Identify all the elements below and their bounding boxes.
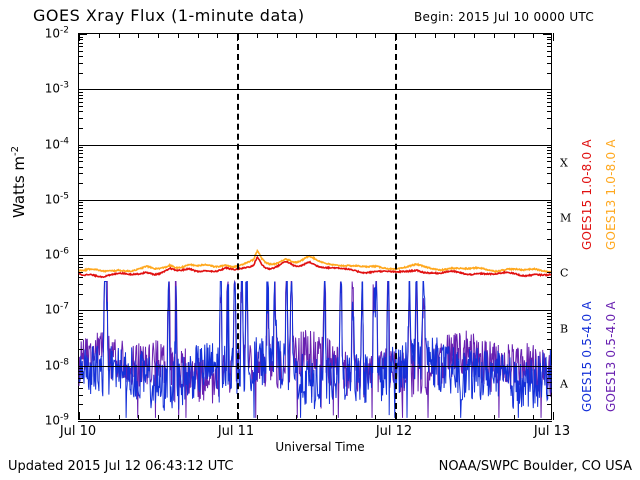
flare-class-B: B <box>560 322 568 335</box>
axis-tick-minor <box>514 33 515 38</box>
axis-tick-major <box>543 200 552 201</box>
axis-tick-minor <box>119 415 120 420</box>
axis-tick-minor <box>547 349 552 350</box>
axis-tick-minor <box>78 153 83 154</box>
y-tick-label: 10-4 <box>45 136 69 151</box>
axis-tick-minor <box>78 388 83 389</box>
axis-tick-minor <box>78 277 83 278</box>
axis-tick-minor <box>547 272 552 273</box>
legend-item-2: GOES15 0.5-4.0 A <box>580 301 594 412</box>
axis-tick-major <box>78 421 87 422</box>
axis-tick-minor <box>78 284 83 285</box>
axis-tick-minor <box>138 415 139 420</box>
axis-tick-minor <box>415 415 416 420</box>
trace-line <box>79 251 551 272</box>
axis-tick-minor <box>78 371 83 372</box>
axis-tick-minor <box>547 39 552 40</box>
flare-class-X: X <box>560 156 568 169</box>
axis-tick-minor <box>547 51 552 52</box>
axis-tick-minor <box>78 128 83 129</box>
axis-tick-minor <box>78 95 83 96</box>
gridline-horizontal <box>79 255 551 256</box>
axis-tick-minor <box>547 173 552 174</box>
y-axis-tick-labels: 10-210-310-410-510-610-710-810-9 <box>0 0 78 480</box>
axis-tick-minor <box>474 415 475 420</box>
axis-tick-minor <box>415 33 416 38</box>
axis-tick-minor <box>78 267 83 268</box>
x-tick-label: Jul 11 <box>218 424 254 439</box>
axis-tick-major <box>543 34 552 35</box>
axis-tick-minor <box>78 339 83 340</box>
axis-tick-minor <box>78 395 83 396</box>
axis-tick-minor <box>257 33 258 38</box>
axis-tick-major <box>237 412 238 420</box>
y-tick-label: 10-2 <box>45 26 69 41</box>
axis-tick-minor <box>257 415 258 420</box>
axis-tick-major <box>78 310 87 311</box>
axis-tick-minor <box>78 239 83 240</box>
axis-tick-minor <box>494 33 495 38</box>
axis-tick-minor <box>78 98 83 99</box>
axis-tick-minor <box>547 147 552 148</box>
axis-tick-major <box>543 255 552 256</box>
axis-tick-minor <box>78 167 83 168</box>
axis-tick-minor <box>78 327 83 328</box>
axis-tick-minor <box>316 33 317 38</box>
axis-tick-minor <box>547 327 552 328</box>
axis-tick-minor <box>78 216 83 217</box>
axis-tick-minor <box>454 33 455 38</box>
axis-tick-minor <box>78 222 83 223</box>
axis-tick-minor <box>547 202 552 203</box>
axis-tick-minor <box>78 349 83 350</box>
axis-tick-minor <box>547 368 552 369</box>
axis-tick-minor <box>547 128 552 129</box>
axis-tick-major <box>553 33 554 41</box>
axis-tick-minor <box>494 415 495 420</box>
axis-tick-major <box>237 33 238 41</box>
axis-tick-minor <box>547 63 552 64</box>
axis-tick-minor <box>547 92 552 93</box>
axis-tick-major <box>395 412 396 420</box>
axis-tick-minor <box>296 415 297 420</box>
gridline-horizontal <box>79 421 551 422</box>
axis-tick-minor <box>547 118 552 119</box>
axis-tick-minor <box>277 33 278 38</box>
axis-tick-minor <box>547 98 552 99</box>
axis-tick-minor <box>547 323 552 324</box>
axis-tick-minor <box>547 404 552 405</box>
axis-tick-minor <box>547 388 552 389</box>
flare-class-C: C <box>560 267 568 280</box>
axis-tick-major <box>543 89 552 90</box>
axis-tick-minor <box>78 106 83 107</box>
axis-tick-minor <box>547 284 552 285</box>
axis-tick-minor <box>78 316 83 317</box>
axis-tick-minor <box>547 261 552 262</box>
axis-tick-minor <box>99 415 100 420</box>
axis-tick-minor <box>547 37 552 38</box>
axis-tick-minor <box>99 33 100 38</box>
axis-tick-minor <box>547 339 552 340</box>
axis-tick-minor <box>547 222 552 223</box>
axis-tick-minor <box>78 319 83 320</box>
axis-tick-minor <box>78 261 83 262</box>
axis-tick-minor <box>547 167 552 168</box>
axis-tick-minor <box>217 33 218 38</box>
x-tick-label: Jul 13 <box>534 424 570 439</box>
y-tick-label: 10-3 <box>45 81 69 96</box>
axis-tick-major <box>553 412 554 420</box>
day-separator-line <box>237 34 239 419</box>
y-tick-label: 10-7 <box>45 302 69 317</box>
axis-tick-minor <box>547 161 552 162</box>
axis-tick-minor <box>547 46 552 47</box>
flare-class-M: M <box>560 212 571 225</box>
axis-tick-minor <box>78 202 83 203</box>
axis-tick-minor <box>547 294 552 295</box>
x-axis-label: Universal Time <box>0 440 640 454</box>
legend-item-1: GOES13 1.0-8.0 A <box>604 139 618 250</box>
axis-tick-minor <box>78 183 83 184</box>
axis-tick-minor <box>78 111 83 112</box>
axis-tick-major <box>78 200 87 201</box>
axis-tick-minor <box>336 33 337 38</box>
axis-tick-minor <box>547 106 552 107</box>
axis-tick-minor <box>547 374 552 375</box>
axis-tick-minor <box>78 374 83 375</box>
axis-tick-minor <box>78 332 83 333</box>
axis-tick-minor <box>547 378 552 379</box>
axis-tick-minor <box>547 316 552 317</box>
begin-time-label: Begin: 2015 Jul 10 0000 UTC <box>414 10 594 24</box>
y-tick-label: 10-6 <box>45 247 69 262</box>
axis-tick-minor <box>78 404 83 405</box>
axis-tick-minor <box>78 313 83 314</box>
axis-tick-minor <box>547 150 552 151</box>
axis-tick-major <box>79 412 80 420</box>
axis-tick-major <box>543 145 552 146</box>
x-tick-label: Jul 12 <box>376 424 412 439</box>
source-attribution: NOAA/SWPC Boulder, CO USA <box>439 459 632 474</box>
gridline-horizontal <box>79 200 551 201</box>
gridline-horizontal <box>79 89 551 90</box>
axis-tick-minor <box>547 229 552 230</box>
axis-tick-major <box>79 33 80 41</box>
axis-tick-minor <box>547 183 552 184</box>
axis-tick-minor <box>78 229 83 230</box>
axis-tick-minor <box>78 92 83 93</box>
axis-tick-major <box>543 421 552 422</box>
axis-tick-minor <box>78 368 83 369</box>
y-tick-label: 10-8 <box>45 357 69 372</box>
axis-tick-minor <box>547 371 552 372</box>
axis-tick-minor <box>78 102 83 103</box>
axis-tick-minor <box>78 51 83 52</box>
axis-tick-minor <box>454 415 455 420</box>
axis-tick-minor <box>547 205 552 206</box>
day-separator-line <box>395 34 397 419</box>
axis-tick-minor <box>78 205 83 206</box>
axis-tick-minor <box>78 272 83 273</box>
axis-tick-minor <box>547 153 552 154</box>
axis-tick-minor <box>547 239 552 240</box>
axis-tick-major <box>543 366 552 367</box>
axis-tick-minor <box>547 95 552 96</box>
axis-tick-minor <box>78 157 83 158</box>
axis-tick-minor <box>296 33 297 38</box>
axis-tick-minor <box>547 267 552 268</box>
gridline-horizontal <box>79 366 551 367</box>
axis-tick-minor <box>78 46 83 47</box>
axis-tick-minor <box>138 33 139 38</box>
axis-tick-minor <box>158 415 159 420</box>
axis-tick-minor <box>514 415 515 420</box>
axis-tick-minor <box>198 415 199 420</box>
axis-tick-minor <box>78 323 83 324</box>
axis-tick-minor <box>533 33 534 38</box>
axis-tick-minor <box>547 43 552 44</box>
axis-tick-minor <box>178 33 179 38</box>
legend-item-0: GOES15 1.0-8.0 A <box>580 139 594 250</box>
axis-tick-minor <box>547 332 552 333</box>
axis-tick-minor <box>78 294 83 295</box>
axis-tick-minor <box>78 63 83 64</box>
updated-timestamp: Updated 2015 Jul 12 06:43:12 UTC <box>8 459 233 474</box>
axis-tick-minor <box>356 415 357 420</box>
axis-tick-major <box>78 145 87 146</box>
axis-tick-minor <box>78 258 83 259</box>
axis-tick-minor <box>547 56 552 57</box>
axis-tick-minor <box>78 161 83 162</box>
axis-tick-minor <box>547 73 552 74</box>
axis-tick-minor <box>78 264 83 265</box>
axis-tick-minor <box>78 118 83 119</box>
axis-tick-minor <box>78 212 83 213</box>
axis-tick-minor <box>547 258 552 259</box>
axis-tick-minor <box>547 216 552 217</box>
axis-tick-minor <box>547 264 552 265</box>
axis-tick-minor <box>375 33 376 38</box>
axis-tick-minor <box>78 43 83 44</box>
axis-tick-minor <box>474 33 475 38</box>
axis-tick-major <box>78 366 87 367</box>
axis-tick-minor <box>336 415 337 420</box>
axis-tick-minor <box>78 378 83 379</box>
axis-tick-minor <box>158 33 159 38</box>
axis-tick-minor <box>78 56 83 57</box>
axis-tick-minor <box>547 157 552 158</box>
axis-tick-minor <box>78 173 83 174</box>
axis-tick-minor <box>547 395 552 396</box>
x-tick-label: Jul 10 <box>60 424 96 439</box>
axis-tick-minor <box>217 415 218 420</box>
axis-tick-minor <box>547 212 552 213</box>
legend-item-3: GOES13 0.5-4.0 A <box>604 301 618 412</box>
axis-tick-major <box>543 310 552 311</box>
axis-tick-minor <box>316 415 317 420</box>
chart-plot-area <box>78 33 552 420</box>
axis-tick-minor <box>119 33 120 38</box>
axis-tick-minor <box>533 415 534 420</box>
axis-tick-minor <box>547 208 552 209</box>
axis-tick-minor <box>547 277 552 278</box>
axis-tick-minor <box>198 33 199 38</box>
axis-tick-minor <box>78 208 83 209</box>
axis-tick-major <box>395 33 396 41</box>
axis-tick-minor <box>435 415 436 420</box>
y-tick-label: 10-5 <box>45 191 69 206</box>
gridline-horizontal <box>79 145 551 146</box>
axis-tick-minor <box>356 33 357 38</box>
flare-class-A: A <box>560 378 568 391</box>
axis-tick-major <box>78 89 87 90</box>
axis-tick-minor <box>547 102 552 103</box>
axis-tick-minor <box>78 150 83 151</box>
axis-tick-minor <box>547 111 552 112</box>
axis-tick-minor <box>435 33 436 38</box>
axis-tick-minor <box>547 382 552 383</box>
axis-tick-minor <box>178 415 179 420</box>
axis-tick-minor <box>78 73 83 74</box>
axis-tick-major <box>78 255 87 256</box>
chart-traces <box>79 34 551 419</box>
axis-tick-minor <box>375 415 376 420</box>
axis-tick-minor <box>78 147 83 148</box>
axis-tick-minor <box>78 382 83 383</box>
axis-tick-minor <box>547 313 552 314</box>
gridline-horizontal <box>79 310 551 311</box>
axis-tick-minor <box>547 319 552 320</box>
axis-tick-minor <box>277 415 278 420</box>
